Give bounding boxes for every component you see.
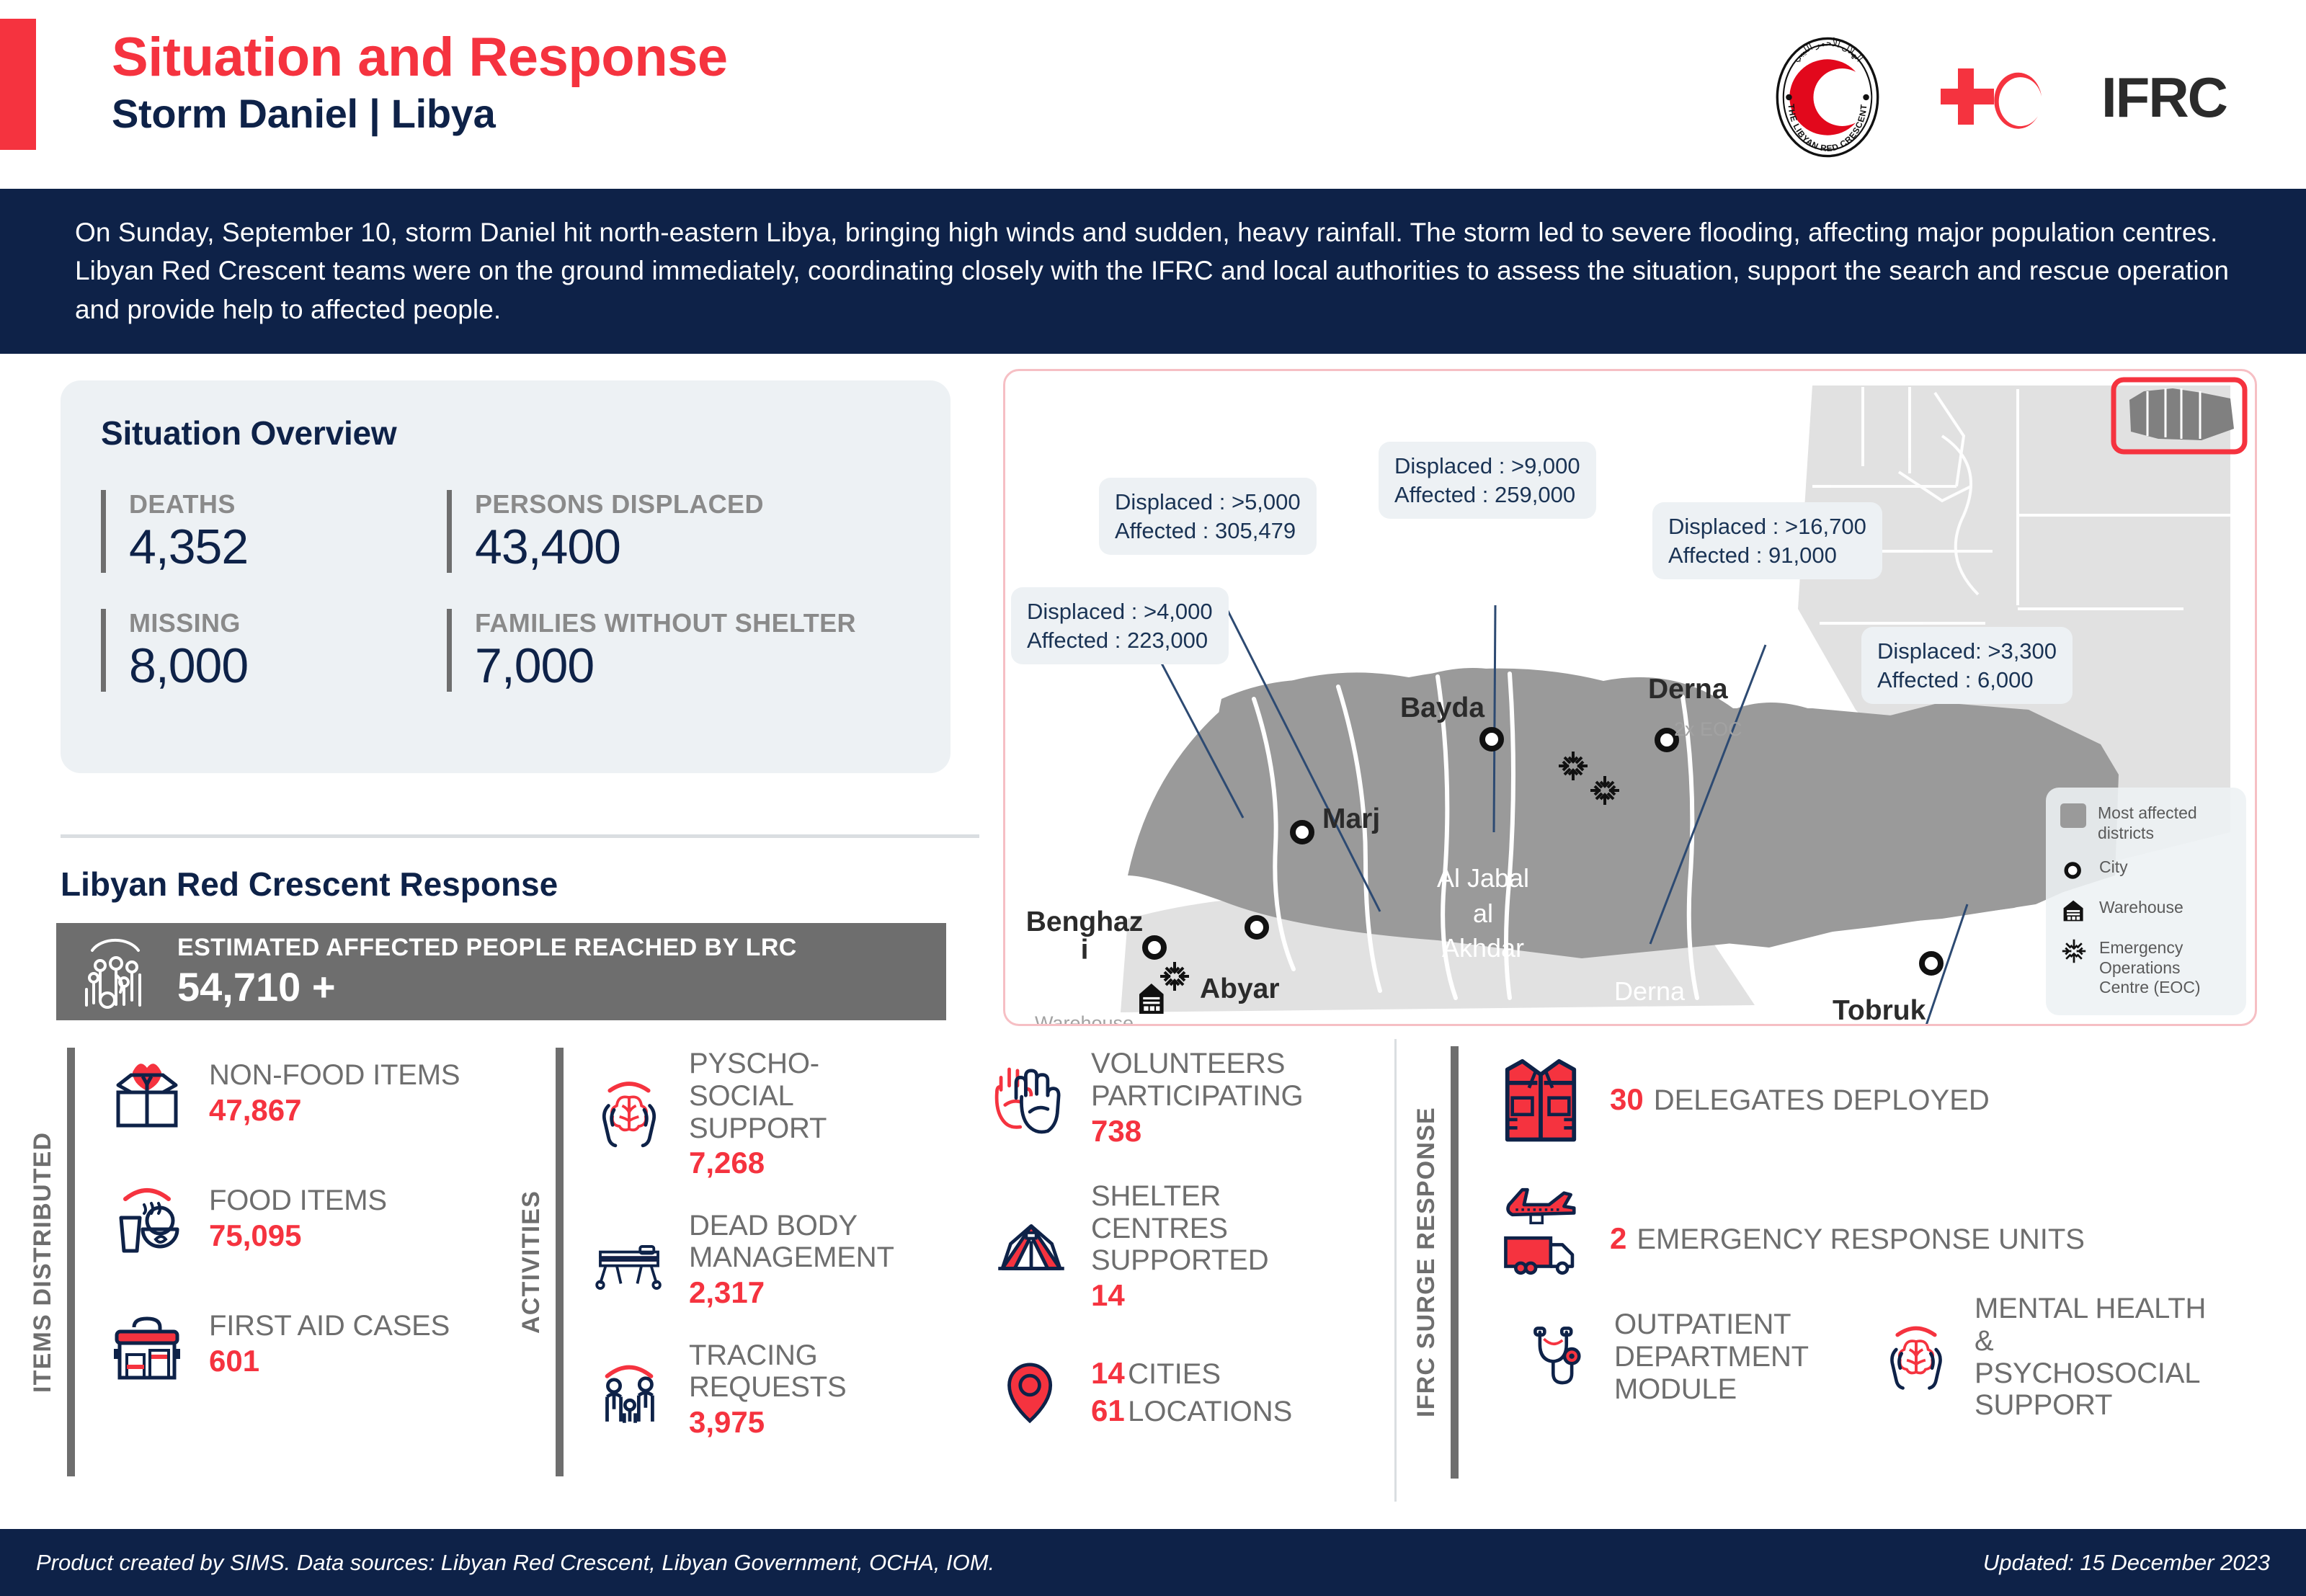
page-header: Situation and Response Storm Daniel | Li… (0, 0, 2306, 189)
warehouse-icon (2060, 898, 2088, 924)
intro-text: On Sunday, September 10, storm Daniel hi… (75, 213, 2234, 329)
situation-overview-title: Situation Overview (101, 414, 910, 453)
libyan-red-crescent-logo: الهلال الأحمر الليبي THE LIBYAN RED CRES… (1766, 36, 1889, 159)
city-label-marj: Marj (1322, 805, 1380, 833)
stat-label: FIRST AID CASES (209, 1310, 450, 1342)
stat-label: PYSCHO-SOCIAL SUPPORT (689, 1048, 905, 1144)
items-distributed-label: ITEMS DISTRIBUTED (29, 1048, 57, 1476)
eru-label: EMERGENCY RESPONSE UNITS (1637, 1223, 2085, 1256)
callout-benghazi: Displaced : >4,000 Affected : 223,000 (1011, 587, 1229, 664)
intro-banner: On Sunday, September 10, storm Daniel hi… (0, 189, 2306, 354)
stat-value: 4,352 (129, 522, 447, 573)
tent-icon (987, 1203, 1075, 1290)
district-label-al-jabal-al-akhdar: Al JabalalAkhdar (1429, 861, 1537, 966)
callout-line2: Affected : 259,000 (1394, 481, 1580, 509)
stat-row-tracing-requests: TRACING REQUESTS 3,975 (585, 1339, 917, 1440)
family-tracing-icon (585, 1346, 673, 1434)
first-aid-kit-icon (101, 1298, 193, 1391)
stat-label: DEATHS (129, 490, 447, 519)
stat-row-emergency-response-units: 2 EMERGENCY RESPONSE UNITS (1487, 1173, 2294, 1280)
district-label-derna: Derna (1614, 976, 1685, 1006)
ifrc-cross-crescent-icon (1941, 61, 2096, 133)
header-red-accent-bar (0, 19, 36, 150)
city-label-bayda: Bayda (1400, 694, 1484, 722)
footer-updated: Updated: 15 December 2023 (1983, 1550, 2270, 1576)
legend-label: Emergency Operations Centre (EOC) (2099, 938, 2233, 998)
ifrc-surge-label: IFRC SURGE RESPONSE (1412, 1046, 1441, 1479)
stat-value: 14 (1091, 1278, 1358, 1313)
map-legend: Most affected districts City Warehouse (2046, 788, 2246, 1015)
module-mental-health-psychosocial: MENTAL HEALTH & PSYCHOSOCIAL SUPPORT (1874, 1293, 2220, 1422)
callout-derna: Displaced : >16,700 Affected : 91,000 (1652, 502, 1882, 579)
module-label: OUTPATIENT DEPARTMENT MODULE (1614, 1309, 1838, 1405)
stat-value: 2,317 (689, 1275, 912, 1310)
stat-missing: MISSING 8,000 (101, 609, 447, 692)
stat-label: VOLUNTEERS PARTICIPATING (1091, 1048, 1343, 1113)
city-sub-benghazi: Warehouse EOC (1021, 1012, 1147, 1026)
stat-label: PERSONS DISPLACED (475, 490, 910, 519)
stat-persons-displaced: PERSONS DISPLACED 43,400 (447, 490, 910, 573)
callout-line1: Displaced : >4,000 (1027, 597, 1213, 626)
section-bar (1451, 1046, 1459, 1479)
legend-item-warehouse: Warehouse (2060, 898, 2233, 924)
stat-value: 3,975 (689, 1405, 876, 1440)
stat-label: DEAD BODY MANAGEMENT (689, 1210, 912, 1275)
ifrc-logo: IFRC (1941, 61, 2227, 133)
lrc-banner-value: 54,710 + (177, 963, 797, 1010)
city-label-derna: Derna (1648, 675, 1728, 703)
page-footer: Product created by SIMS. Data sources: L… (0, 1529, 2306, 1596)
delegates-label: DELEGATES DEPLOYED (1654, 1084, 1990, 1117)
stat-value: 43,400 (475, 522, 910, 573)
stat-value: 75,095 (209, 1218, 387, 1253)
callout-line2: Affected : 223,000 (1027, 626, 1213, 655)
stat-row-shelter-centres-supported: SHELTER CENTRES SUPPORTED 14 (987, 1180, 1362, 1314)
stat-deaths: DEATHS 4,352 (101, 490, 447, 573)
stat-value: 47,867 (209, 1093, 460, 1128)
stat-row-volunteers-participating: VOLUNTEERS PARTICIPATING 738 (987, 1048, 1362, 1149)
non-food-items-box-icon (101, 1048, 193, 1140)
most-affected-districts-swatch (2060, 803, 2086, 828)
callout-al-jabal-al-akhdar: Displaced : >9,000 Affected : 259,000 (1379, 442, 1596, 519)
stat-label: TRACING REQUESTS (689, 1339, 876, 1404)
callout-line1: Displaced : >9,000 (1394, 452, 1580, 481)
bottom-stats-area: ITEMS DISTRIBUTED NON-FOOD ITEMS 47,867 (0, 1039, 2306, 1515)
activities-label: ACTIVITIES (517, 1048, 546, 1476)
callout-line2: Affected : 305,479 (1115, 517, 1301, 545)
lrc-reached-banner: ESTIMATED AFFECTED PEOPLE REACHED BY LRC… (56, 923, 946, 1020)
map-pin-icon (987, 1348, 1075, 1436)
eru-count: 2 (1610, 1221, 1626, 1256)
legend-label: Most affected districts (2098, 803, 2233, 843)
stat-row-delegates-deployed: 30 DELEGATES DEPLOYED (1487, 1046, 2294, 1153)
lrc-banner-label: ESTIMATED AFFECTED PEOPLE REACHED BY LRC (177, 934, 797, 962)
stat-row-psycho-social-support: PYSCHO-SOCIAL SUPPORT 7,268 (585, 1048, 917, 1181)
locations-label: LOCATIONS (1128, 1396, 1292, 1427)
page-title: Situation and Response (112, 29, 728, 86)
situation-overview-card: Situation Overview DEATHS 4,352 PERSONS … (61, 380, 951, 773)
stat-row-food-items: FOOD ITEMS 75,095 (101, 1173, 533, 1265)
legend-item-city: City (2060, 857, 2233, 883)
stat-row-non-food-items: NON-FOOD ITEMS 47,867 (101, 1048, 533, 1140)
stat-label: FOOD ITEMS (209, 1185, 387, 1217)
city-label-benghazi: Benghaz i (1020, 908, 1149, 964)
stat-label: MISSING (129, 609, 447, 638)
people-group-icon (76, 932, 156, 1012)
callout-al-marj: Displaced : >5,000 Affected : 305,479 (1099, 478, 1317, 555)
city-label-abyar: Abyar (1200, 975, 1280, 1003)
vest-icon (1487, 1046, 1594, 1153)
module-outpatient-department: OUTPATIENT DEPARTMENT MODULE (1513, 1293, 1838, 1422)
callout-al-butnan: Displaced: >3,300 Affected : 6,000 (1861, 627, 2073, 704)
stat-label: SHELTER CENTRES SUPPORTED (1091, 1180, 1358, 1277)
section-bar (556, 1048, 564, 1476)
title-block: Situation and Response Storm Daniel | Li… (112, 29, 728, 137)
stat-label: NON-FOOD ITEMS (209, 1059, 460, 1092)
map-panel[interactable]: Displaced : >4,000 Affected : 223,000 Di… (1003, 369, 2257, 1026)
callout-line1: Displaced : >16,700 (1668, 512, 1866, 541)
situation-overview-grid: DEATHS 4,352 PERSONS DISPLACED 43,400 MI… (101, 490, 910, 692)
lrc-response-title: Libyan Red Crescent Response (61, 865, 558, 904)
cities-count: 14 (1091, 1356, 1125, 1390)
stat-families-without-shelter: FAMILIES WITHOUT SHELTER 7,000 (447, 609, 910, 692)
brain-hands-icon (1874, 1315, 1959, 1400)
plane-truck-icon (1487, 1173, 1594, 1280)
logo-group: الهلال الأحمر الليبي THE LIBYAN RED CRES… (1766, 36, 2227, 159)
callout-line2: Affected : 91,000 (1668, 541, 1866, 570)
city-sub-derna: 2x EOC (1674, 718, 1742, 741)
legend-label: Warehouse (2099, 898, 2183, 918)
legend-item-eoc: Emergency Operations Centre (EOC) (2060, 938, 2233, 998)
section-bar (67, 1048, 75, 1476)
food-items-bowl-icon (101, 1173, 193, 1265)
locations-count: 61 (1091, 1394, 1125, 1427)
city-circle-icon (2060, 857, 2088, 883)
stat-value: 738 (1091, 1114, 1343, 1149)
cities-label: CITIES (1128, 1358, 1221, 1390)
stat-label: FAMILIES WITHOUT SHELTER (475, 609, 910, 638)
callout-line1: Displaced : >5,000 (1115, 488, 1301, 517)
legend-label: City (2099, 857, 2128, 878)
stat-value: 7,268 (689, 1146, 905, 1180)
stat-row-first-aid-cases: FIRST AID CASES 601 (101, 1298, 533, 1391)
callout-line2: Affected : 6,000 (1877, 666, 2057, 695)
activities-section: ACTIVITIES PYSCHO-SOCIAL SUPPO (517, 1048, 917, 1476)
stretcher-icon (585, 1216, 673, 1304)
ifrc-surge-response-section: IFRC SURGE RESPONSE 30 DELEGATES DEPLOYE… (1412, 1046, 2294, 1479)
eoc-icon (2060, 938, 2088, 964)
items-distributed-section: ITEMS DISTRIBUTED NON-FOOD ITEMS 47,867 (29, 1048, 533, 1476)
stat-row-cities-locations: 14 CITIES 61 LOCATIONS (987, 1348, 1362, 1436)
page-subtitle: Storm Daniel | Libya (112, 91, 728, 137)
brain-hands-icon (585, 1070, 673, 1158)
legend-item-districts: Most affected districts (2060, 803, 2233, 843)
module-label: MENTAL HEALTH & PSYCHOSOCIAL SUPPORT (1975, 1293, 2220, 1422)
section-vertical-divider (1394, 1039, 1397, 1502)
delegates-count: 30 (1610, 1082, 1644, 1117)
footer-credit: Product created by SIMS. Data sources: L… (36, 1550, 994, 1576)
callout-line1: Displaced: >3,300 (1877, 637, 2057, 666)
hands-volunteers-icon (987, 1054, 1075, 1142)
city-label-tobruk: Tobruk (1833, 997, 1926, 1025)
stethoscope-icon (1513, 1315, 1598, 1400)
activities-column-2: VOLUNTEERS PARTICIPATING 738 SHELTER CEN… (987, 1048, 1362, 1436)
stat-value: 7,000 (475, 641, 910, 692)
ifrc-wordmark: IFRC (2101, 65, 2227, 130)
stat-value: 601 (209, 1344, 450, 1378)
stat-row-dead-body-management: DEAD BODY MANAGEMENT 2,317 (585, 1210, 917, 1311)
stat-value: 8,000 (129, 641, 447, 692)
section-divider (61, 834, 979, 838)
